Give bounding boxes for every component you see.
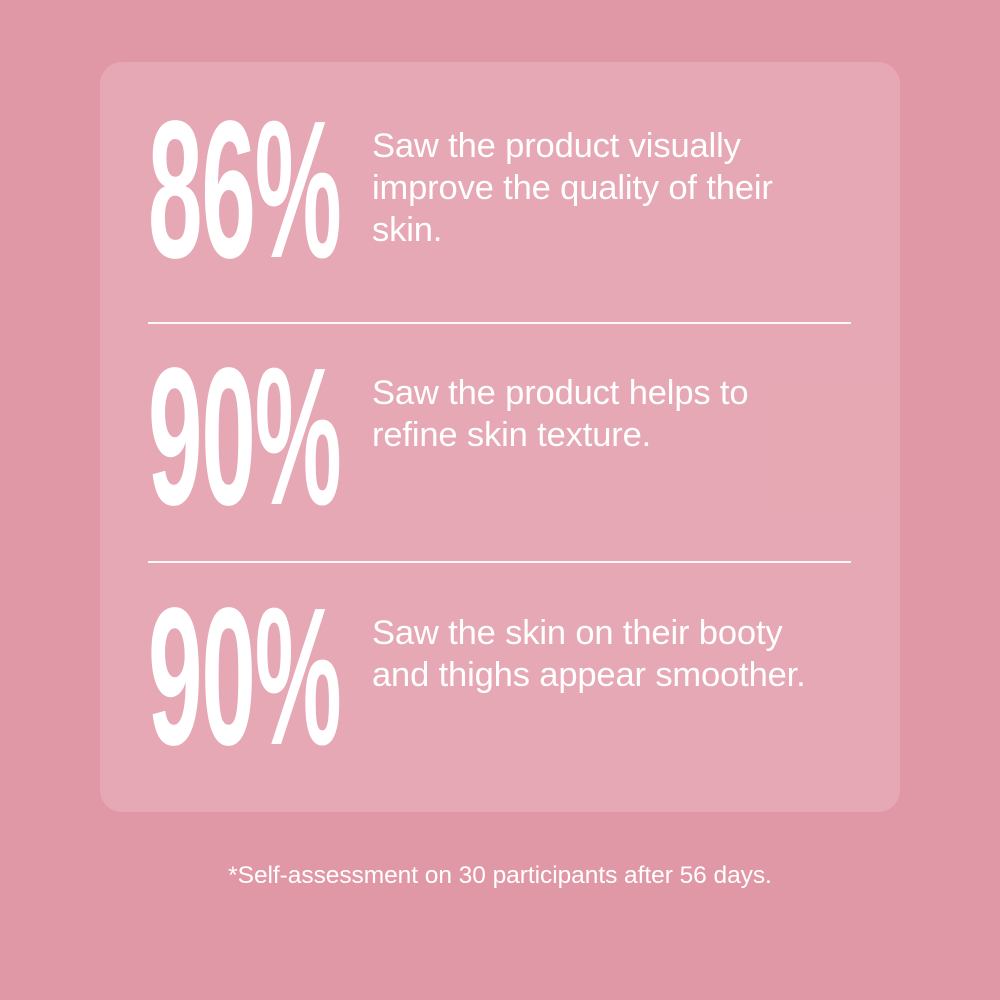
stat-row: 86% Saw the product visually improve the… xyxy=(148,110,852,271)
stat-percentage: 90% xyxy=(148,597,378,758)
stats-card: 86% Saw the product visually improve the… xyxy=(100,62,900,812)
footnote-disclaimer: *Self-assessment on 30 participants afte… xyxy=(0,860,1000,892)
stat-row: 90% Saw the product helps to refine skin… xyxy=(148,357,852,518)
stat-description: Saw the product helps to refine skin tex… xyxy=(372,357,824,456)
stat-description: Saw the skin on their booty and thighs a… xyxy=(372,597,824,696)
stat-description: Saw the product visually improve the qua… xyxy=(372,110,824,251)
stat-divider xyxy=(148,322,851,324)
stat-divider xyxy=(148,561,851,563)
stat-row: 90% Saw the skin on their booty and thig… xyxy=(148,597,852,758)
stat-percentage: 90% xyxy=(148,357,378,518)
stat-percentage: 86% xyxy=(148,110,378,271)
stat-callout-page: { "theme": { "background_color": "#E198A… xyxy=(0,0,1000,1000)
